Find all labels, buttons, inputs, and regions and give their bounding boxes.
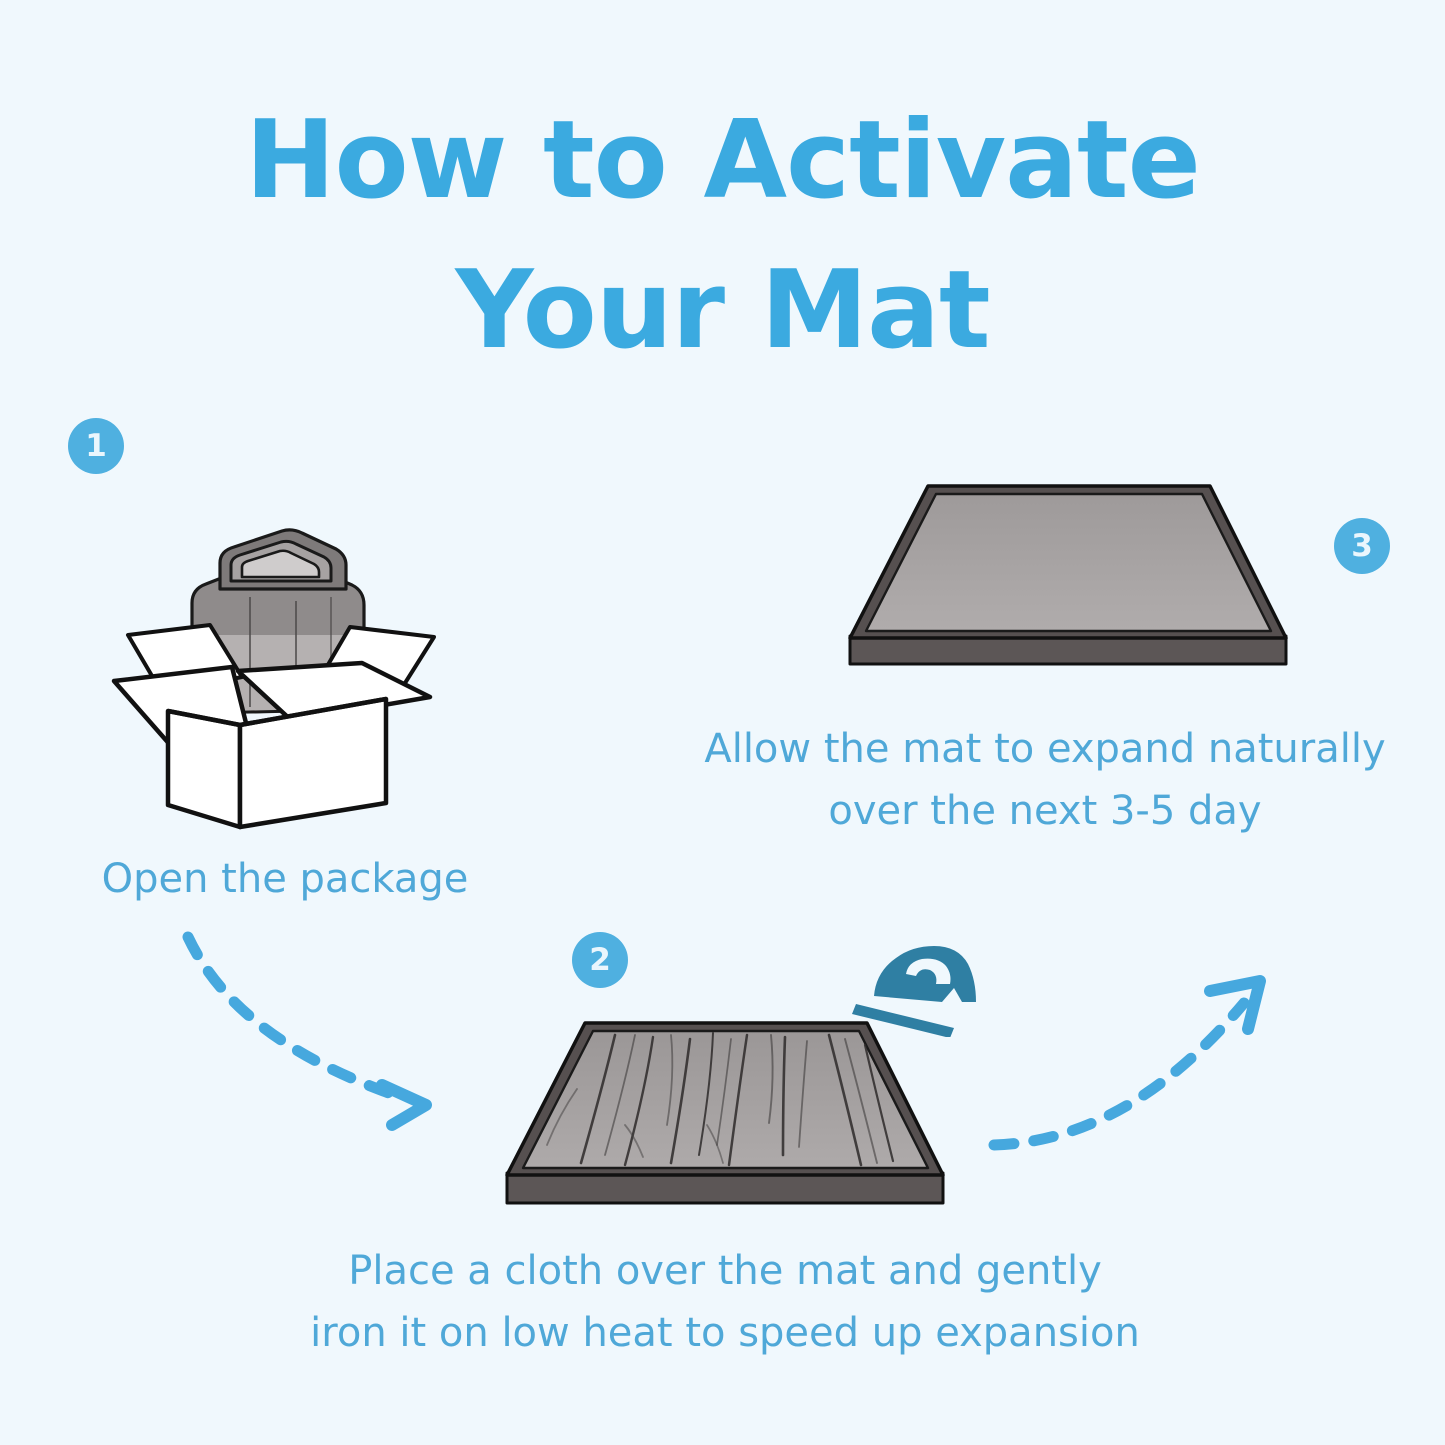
step-3-caption: Allow the mat to expand naturally over t… <box>660 718 1430 842</box>
open-cardboard-box-icon <box>100 485 450 830</box>
step-3-caption-line-2: over the next 3-5 day <box>660 780 1430 842</box>
expanded-mat-icon <box>828 468 1308 683</box>
step-2-caption-line-2: iron it on low heat to speed up expansio… <box>250 1302 1200 1364</box>
step-badge-1: 1 <box>68 418 124 474</box>
page-title: How to Activate Your Mat <box>0 86 1445 386</box>
step-badge-3: 3 <box>1334 518 1390 574</box>
step-1-caption-line-1: Open the package <box>40 848 530 910</box>
step-2-caption-line-1: Place a cloth over the mat and gently <box>250 1240 1200 1302</box>
arrow-step1-to-step2 <box>168 925 478 1140</box>
arrow-step2-to-step3 <box>978 955 1288 1185</box>
step-1-caption: Open the package <box>40 848 530 910</box>
step-3-caption-line-1: Allow the mat to expand naturally <box>660 718 1430 780</box>
step-2-caption: Place a cloth over the mat and gently ir… <box>250 1240 1200 1364</box>
mat-with-cloth-icon <box>485 1005 965 1225</box>
page-title-line-2: Your Mat <box>0 236 1445 386</box>
infographic-canvas: How to Activate Your Mat 1 <box>0 0 1445 1445</box>
page-title-line-1: How to Activate <box>0 86 1445 236</box>
step-badge-2: 2 <box>572 932 628 988</box>
